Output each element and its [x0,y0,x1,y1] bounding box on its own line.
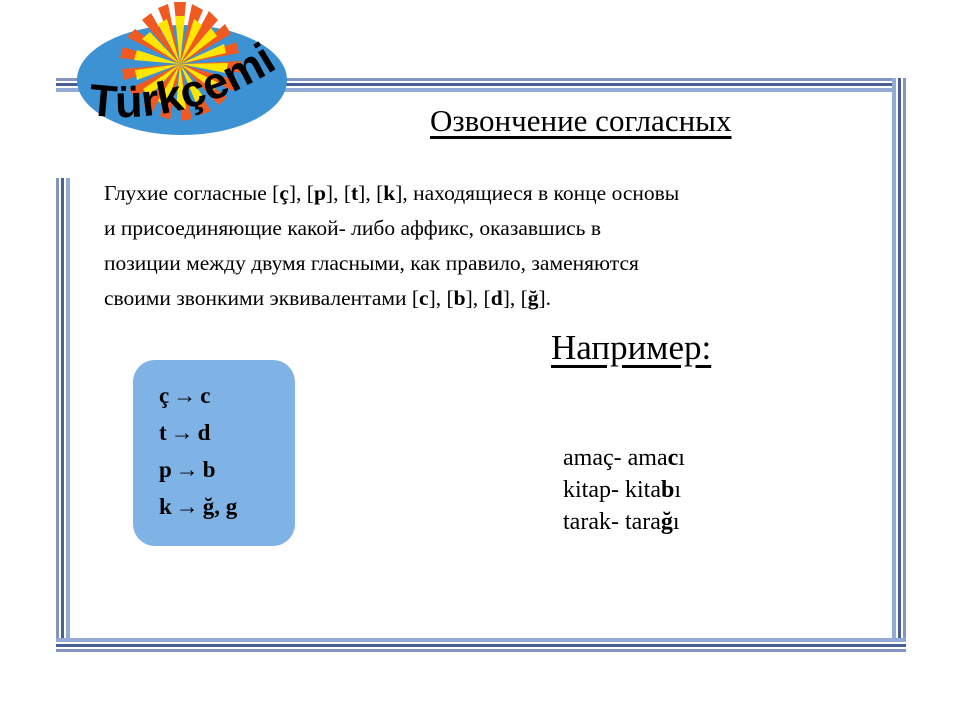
example-changed-letter: c [668,445,679,471]
example-changed-letter: ğ [661,509,673,535]
paragraph-text: ]. [539,286,552,310]
body-paragraph: Глухие согласные [ç], [p], [t], [k], нах… [104,176,874,316]
example-changed-letter: b [661,477,674,503]
paragraph-line-4: своими звонкими эквивалентами [c], [b], … [104,281,874,316]
rule-row: k→ğ, g [159,488,237,525]
rule-row: t→d [159,414,237,451]
example-suffix: ı [673,509,680,535]
page-title: Озвончение согласных [430,103,732,139]
example-base: tarak- tara [563,509,661,535]
example-item: tarak- tarağı [563,506,685,538]
phoneme-c-cedilla: ç [279,181,289,205]
examples-heading: Например: [551,328,711,368]
arrow-right-icon: → [167,420,198,445]
paragraph-line-3: позиции между двумя гласными, как правил… [104,246,874,281]
rule-to: ğ, g [203,494,238,519]
logo-svg: Türkçemiz [62,2,312,167]
example-item: amaç- amacı [563,442,685,474]
paragraph-text: ], [ [358,181,383,205]
rule-to: c [200,383,210,408]
example-suffix: ı [678,445,685,471]
paragraph-line-1: Глухие согласные [ç], [p], [t], [k], нах… [104,176,874,211]
rule-to: d [198,420,211,445]
phoneme-d: d [491,286,503,310]
phoneme-g-breve: ğ [528,286,539,310]
example-suffix: ı [674,477,681,503]
phoneme-k: k [383,181,395,205]
frame-edge-bottom [56,638,906,652]
arrow-right-icon: → [172,494,203,519]
rule-to: b [203,457,216,482]
rule-from: k [159,494,172,519]
paragraph-text: ], [ [503,286,528,310]
rule-row: ç→c [159,377,237,414]
frame-edge-right [892,78,906,652]
paragraph-text: Глухие согласные [ [104,181,279,205]
arrow-right-icon: → [169,383,200,408]
paragraph-text: ], [ [466,286,491,310]
example-base: kitap- kita [563,477,661,503]
phoneme-b: b [454,286,466,310]
frame-edge-left [56,178,70,652]
paragraph-text: ], [ [429,286,454,310]
slide-canvas: Türkçemiz Озвончение согласных Глухие со… [0,0,960,720]
consonant-rules-box: ç→c t→d p→b k→ğ, g [133,360,295,546]
phoneme-c: c [419,286,429,310]
turkcemiz-logo: Türkçemiz [62,2,312,167]
phoneme-p: p [314,181,326,205]
example-item: kitap- kitabı [563,474,685,506]
examples-list: amaç- amacı kitap- kitabı tarak- tarağı [563,442,685,538]
paragraph-text: своими звонкими эквивалентами [ [104,286,419,310]
arrow-right-icon: → [172,457,203,482]
rule-from: t [159,420,167,445]
consonant-rules-list: ç→c t→d p→b k→ğ, g [159,377,237,525]
paragraph-text: ], находящиеся в конце основы [395,181,679,205]
paragraph-text: ], [ [289,181,314,205]
rule-from: ç [159,383,169,408]
rule-row: p→b [159,451,237,488]
paragraph-line-2: и присоединяющие какой- либо аффикс, ока… [104,211,874,246]
paragraph-text: ], [ [326,181,351,205]
rule-from: p [159,457,172,482]
example-base: amaç- ama [563,445,668,471]
